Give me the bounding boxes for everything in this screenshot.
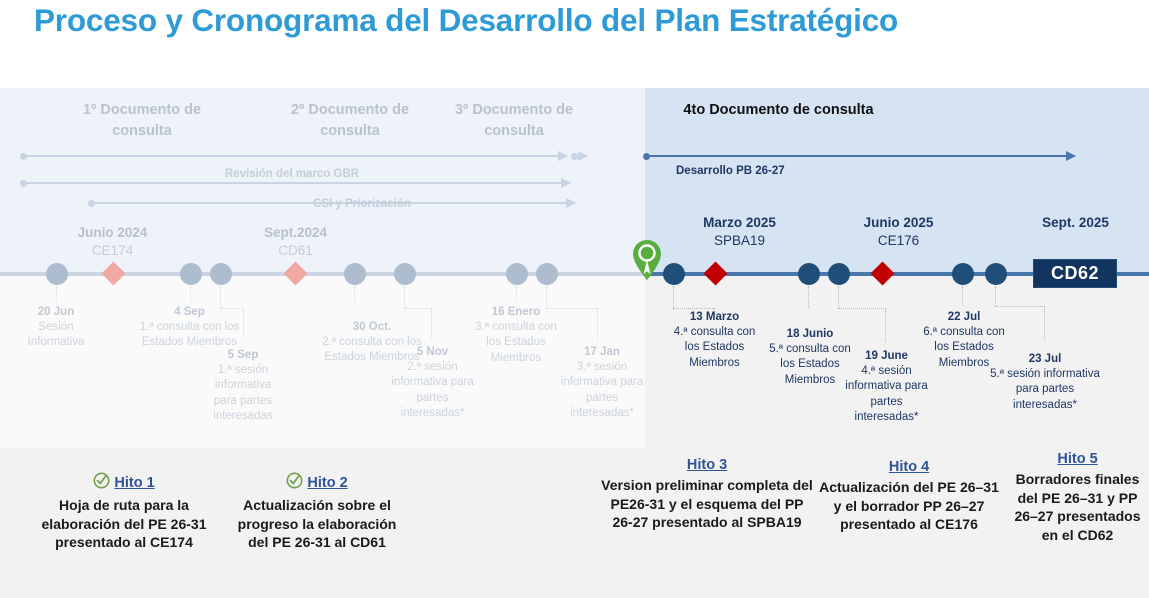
event-date: 30 Oct. bbox=[320, 320, 424, 335]
milestone-2[interactable]: Hito 2 Actualización sobre el progreso l… bbox=[228, 472, 406, 552]
leader-4-sep bbox=[190, 286, 191, 302]
event-desc: 4.ª consulta con los Estados Miembros bbox=[668, 325, 761, 371]
timeline-node-5-sep[interactable] bbox=[210, 263, 232, 285]
leader-5-nov-c bbox=[431, 308, 432, 340]
leader-13-marzo-b bbox=[673, 308, 715, 309]
event-date: 13 Marzo bbox=[668, 310, 761, 325]
event-desc: 5.ª sesión informativa para partes inter… bbox=[985, 367, 1105, 413]
event-5-nov: 5 Nov 2.ª sesión informativa para partes… bbox=[386, 345, 479, 421]
event-20-jun: 20 Jun Sesión Informativa bbox=[16, 305, 96, 351]
milestone-2-header: Hito 2 bbox=[228, 472, 406, 494]
month-label: Marzo 2025 bbox=[677, 214, 802, 232]
phase-heading-4: 4to Documento de consulta bbox=[676, 100, 881, 121]
milestone-4-header: Hito 4 bbox=[818, 458, 1000, 476]
leader-23-jul-c bbox=[1044, 306, 1045, 340]
milestone-1-header: Hito 1 bbox=[30, 472, 218, 494]
event-17-jan: 17 Jan 3.ª sesión informativa para parte… bbox=[556, 345, 648, 421]
event-date: 20 Jun bbox=[16, 305, 96, 320]
slide-root: Proceso y Cronograma del Desarrollo del … bbox=[0, 0, 1149, 598]
cd62-badge[interactable]: CD62 bbox=[1033, 259, 1117, 288]
timeline-node-18-junio[interactable] bbox=[798, 263, 820, 285]
timeline-node-5-nov[interactable] bbox=[394, 263, 416, 285]
event-date: 5 Nov bbox=[386, 345, 479, 360]
arrow-consultations-past bbox=[22, 155, 567, 157]
milestone-1[interactable]: Hito 1 Hoja de ruta para la elaboración … bbox=[30, 472, 218, 552]
timeline-node-22-jul[interactable] bbox=[952, 263, 974, 285]
event-desc: 1.ª consulta con los Estados Miembros bbox=[122, 320, 257, 350]
event-desc: 4.ª sesión informativa para partes inter… bbox=[840, 364, 933, 425]
event-date: 17 Jan bbox=[556, 345, 648, 360]
event-date: 5 Sep bbox=[205, 348, 281, 363]
timeline-node-17-jan[interactable] bbox=[536, 263, 558, 285]
event-16-enero: 16 Enero 3.ª consulta con los Estados Mi… bbox=[472, 305, 560, 366]
timeline-node-4-sep[interactable] bbox=[180, 263, 202, 285]
arrow-gap-connector bbox=[573, 155, 587, 157]
milestone-2-title[interactable]: Hito 2 bbox=[307, 475, 347, 491]
event-date: 22 Jul bbox=[920, 310, 1008, 325]
timeline-node-16-enero[interactable] bbox=[506, 263, 528, 285]
month-label: Sept.2024 bbox=[233, 224, 358, 242]
event-13-marzo: 13 Marzo 4.ª consulta con los Estados Mi… bbox=[668, 310, 761, 371]
event-desc: 2.ª sesión informativa para partes inter… bbox=[386, 360, 479, 421]
milestone-4[interactable]: Hito 4 Actualización del PE 26–31 y el b… bbox=[818, 458, 1000, 534]
leader-5-nov-a bbox=[404, 286, 405, 308]
phase-heading-1: 1º Documento de consulta bbox=[52, 100, 232, 142]
event-desc: 3.ª consulta con los Estados Miembros bbox=[472, 320, 560, 366]
label-gbr-review: Revisión del marco GBR bbox=[72, 168, 512, 180]
event-desc: 3.ª sesión informativa para partes inter… bbox=[556, 360, 648, 421]
check-circle-icon bbox=[93, 472, 110, 494]
event-date: 18 Junio bbox=[765, 327, 855, 342]
leader-19-june-a bbox=[838, 286, 839, 308]
milestone-5-body: Borradores finales del PE 26–31 y PP 26–… bbox=[1010, 470, 1145, 544]
milestone-2-body: Actualización sobre el progreso la elabo… bbox=[228, 496, 406, 552]
month-label: Sept. 2025 bbox=[1013, 214, 1138, 232]
arrow-consultations-current bbox=[645, 155, 1075, 157]
milestone-3-header: Hito 3 bbox=[600, 456, 814, 474]
milestone-3-body: Version preliminar completa del PE26-31 … bbox=[600, 476, 814, 532]
milestone-1-body: Hoja de ruta para la elaboración del PE … bbox=[30, 496, 218, 552]
event-date: 4 Sep bbox=[122, 305, 257, 320]
leader-23-jul-b bbox=[995, 306, 1045, 307]
month-code: SPBA19 bbox=[677, 232, 802, 250]
milestone-4-body: Actualización del PE 26–31 y el borrador… bbox=[818, 478, 1000, 534]
event-date: 23 Jul bbox=[985, 352, 1105, 367]
leader-19-june-b bbox=[838, 308, 886, 309]
event-23-jul: 23 Jul 5.ª sesión informativa para parte… bbox=[985, 352, 1105, 413]
timeline-node-23-jul[interactable] bbox=[985, 263, 1007, 285]
milestone-4-title[interactable]: Hito 4 bbox=[889, 459, 929, 475]
month-marzo-2025: Marzo 2025 SPBA19 bbox=[677, 214, 802, 249]
arrow-gbr-review bbox=[22, 182, 570, 184]
leader-13-marzo-a bbox=[673, 286, 674, 308]
timeline-node-19-june[interactable] bbox=[828, 263, 850, 285]
timeline-node-30-oct[interactable] bbox=[344, 263, 366, 285]
map-pin-icon bbox=[630, 238, 664, 282]
leader-16-enero bbox=[516, 286, 517, 302]
leader-17-jan-c bbox=[597, 308, 598, 340]
event-desc: Sesión Informativa bbox=[16, 320, 96, 350]
milestone-3-title[interactable]: Hito 3 bbox=[687, 457, 727, 473]
label-pb-development: Desarrollo PB 26-27 bbox=[676, 165, 886, 177]
milestone-5-header: Hito 5 bbox=[1010, 450, 1145, 468]
leader-23-jul-a bbox=[995, 286, 996, 306]
month-junio-2025: Junio 2025 CE176 bbox=[836, 214, 961, 249]
phase-heading-3: 3º Documento de consulta bbox=[424, 100, 604, 142]
month-label: Junio 2024 bbox=[50, 224, 175, 242]
milestone-1-title[interactable]: Hito 1 bbox=[114, 475, 154, 491]
event-4-sep: 4 Sep 1.ª consulta con los Estados Miemb… bbox=[122, 305, 257, 351]
leader-22-jul bbox=[962, 286, 963, 306]
month-jun-2024: Junio 2024 CE174 bbox=[50, 224, 175, 259]
month-sept-2024: Sept.2024 CD61 bbox=[233, 224, 358, 259]
leader-19-june-c bbox=[885, 308, 886, 342]
check-circle-icon bbox=[286, 472, 303, 494]
leader-20-jun bbox=[56, 286, 57, 302]
month-label: Junio 2025 bbox=[836, 214, 961, 232]
milestone-5[interactable]: Hito 5 Borradores finales del PE 26–31 y… bbox=[1010, 450, 1145, 544]
leader-30-oct bbox=[354, 286, 355, 302]
month-code: CD61 bbox=[233, 242, 358, 260]
timeline-node-13-marzo[interactable] bbox=[663, 263, 685, 285]
month-code: CE174 bbox=[50, 242, 175, 260]
milestones-footer: Hito 1 Hoja de ruta para la elaboración … bbox=[0, 448, 1149, 598]
timeline-node-20-jun[interactable] bbox=[46, 263, 68, 285]
milestone-3[interactable]: Hito 3 Version preliminar completa del P… bbox=[600, 456, 814, 532]
phase-heading-2: 2º Documento de consulta bbox=[260, 100, 440, 142]
label-csi: CSI y Priorización bbox=[142, 198, 582, 210]
event-5-sep: 5 Sep 1.ª sesión informativa para partes… bbox=[205, 348, 281, 424]
month-code: CE176 bbox=[836, 232, 961, 250]
milestone-5-title[interactable]: Hito 5 bbox=[1057, 451, 1097, 467]
leader-18-junio bbox=[808, 286, 809, 308]
page-title: Proceso y Cronograma del Desarrollo del … bbox=[34, 2, 898, 39]
leader-5-nov-b bbox=[404, 308, 432, 309]
event-desc: 1.ª sesión informativa para partes inter… bbox=[205, 363, 281, 424]
month-sept-2025: Sept. 2025 bbox=[1013, 214, 1138, 232]
event-date: 16 Enero bbox=[472, 305, 560, 320]
